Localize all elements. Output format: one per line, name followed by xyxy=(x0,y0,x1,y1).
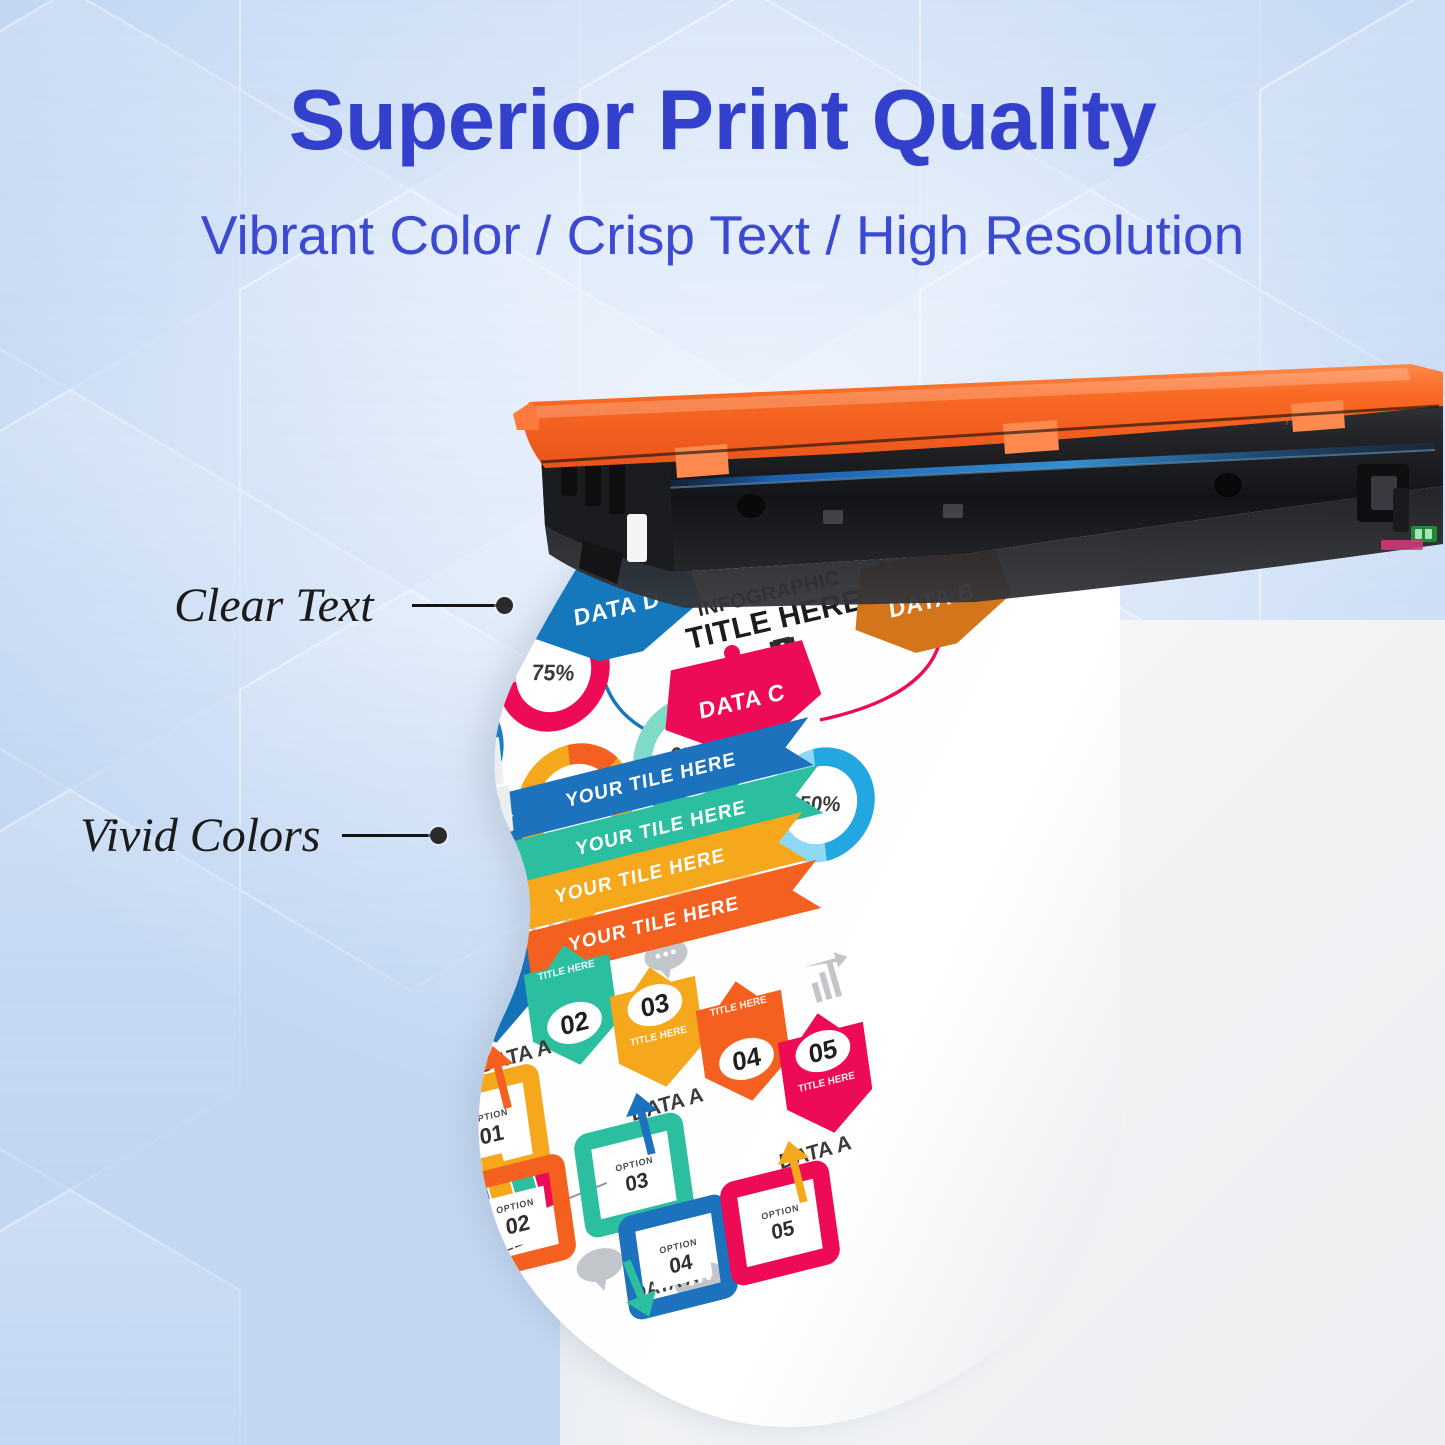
option-05-number: 05 xyxy=(770,1217,796,1244)
page-title: Superior Print Quality xyxy=(0,78,1445,163)
product-marketing-image: INFOGRAPHIC TITLE HERE xyxy=(0,0,1445,1445)
callout-vivid-colors-leader xyxy=(342,834,434,837)
option-02-number: 02 xyxy=(504,1211,531,1239)
printed-paper-sheet: INFOGRAPHIC TITLE HERE xyxy=(300,505,1120,1445)
callout-vivid-colors-label: Vivid Colors xyxy=(80,808,320,863)
option-01-number: 01 xyxy=(478,1121,505,1149)
toner-drum-cartridge xyxy=(505,358,1445,628)
callout-vivid-colors-dot xyxy=(430,827,447,844)
option-03-number: 03 xyxy=(624,1169,650,1196)
callout-clear-text-label: Clear Text xyxy=(174,578,374,633)
option-04-number: 04 xyxy=(668,1251,694,1278)
page-subtitle: Vibrant Color / Crisp Text / High Resolu… xyxy=(0,208,1445,263)
callout-clear-text-dot xyxy=(496,597,513,614)
callout-clear-text-leader xyxy=(412,604,500,607)
